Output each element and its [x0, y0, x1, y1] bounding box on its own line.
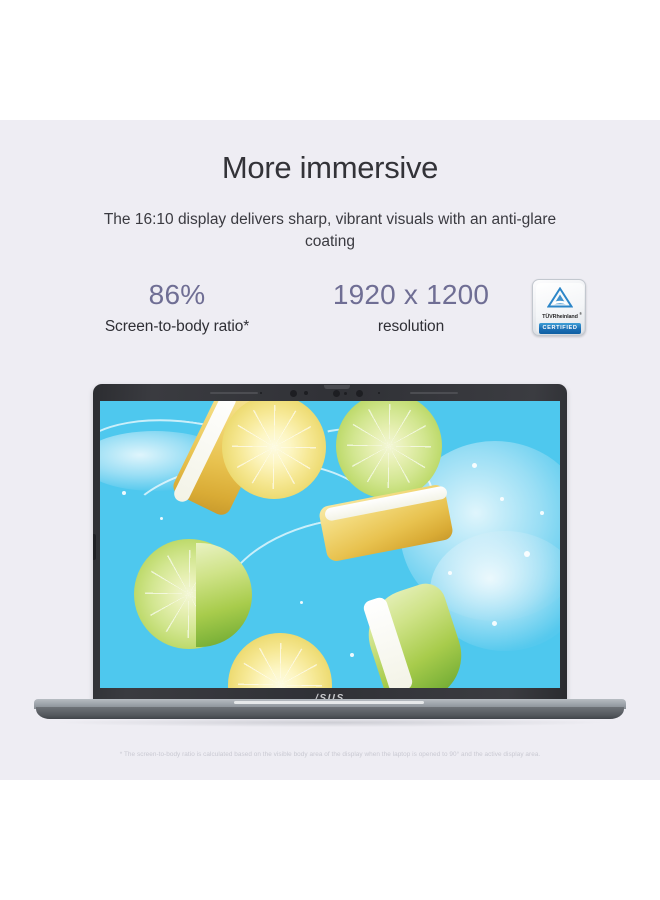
page-subtitle: The 16:10 display delivers sharp, vibran…: [0, 209, 660, 254]
tuv-rheinland-badge: TÜVRheinland® CERTIFIED: [532, 279, 586, 336]
laptop-base-lip: [234, 701, 424, 704]
mic-grille-left: [210, 392, 258, 395]
status-led-left: [304, 391, 308, 395]
lid-side-nub: [93, 534, 96, 560]
webcam-lens: [333, 390, 340, 397]
stat-resolution: 1920 x 1200 resolution: [296, 278, 526, 336]
sensor-pin-left: [260, 392, 262, 394]
top-bezel-sensors: [100, 384, 560, 401]
tuv-brand-text: TÜVRheinland®: [542, 314, 578, 320]
droplet-10: [540, 511, 544, 515]
laptop-base: [34, 699, 626, 721]
sensor-pin-right: [378, 392, 380, 394]
tuv-certified-band: CERTIFIED: [539, 323, 581, 334]
droplet-2: [160, 517, 163, 520]
webcam-led: [344, 392, 347, 395]
ir-sensor-right: [356, 390, 363, 397]
laptop-lid: /SUS: [93, 384, 567, 708]
product-feature-page: More immersive The 16:10 display deliver…: [0, 0, 660, 900]
droplet-6: [448, 571, 452, 575]
stat-value-screen-to-body: 86%: [62, 278, 292, 312]
tuv-badge-inner: TÜVRheinland® CERTIFIED: [536, 283, 584, 334]
tuv-registered-mark: ®: [579, 312, 581, 316]
laptop-screen: [100, 401, 560, 688]
footnote-text: * The screen-to-body ratio is calculated…: [0, 751, 660, 758]
stat-screen-to-body: 86% Screen-to-body ratio*: [62, 278, 292, 336]
tuv-triangle-icon: [547, 287, 573, 313]
droplet-4: [500, 497, 504, 501]
droplet-5: [524, 551, 530, 557]
lemon-segments-bottom: [238, 643, 321, 688]
stat-value-resolution: 1920 x 1200: [296, 278, 526, 312]
droplet-8: [350, 653, 354, 657]
droplet-7: [492, 621, 497, 626]
stat-label-resolution: resolution: [296, 318, 526, 336]
laptop-base-bottom: [36, 707, 624, 719]
page-title: More immersive: [0, 150, 660, 186]
ir-sensor-left: [290, 390, 297, 397]
webcam-shutter: [324, 385, 350, 389]
droplet-3: [472, 463, 477, 468]
stat-label-screen-to-body: Screen-to-body ratio*: [62, 318, 292, 336]
laptop-product-image: /SUS: [0, 384, 660, 724]
droplet-9: [300, 601, 303, 604]
lime-segments-top-right: [347, 404, 432, 489]
droplet-1: [122, 491, 126, 495]
lemon-segments-top-center: [232, 405, 315, 488]
mic-grille-right: [410, 392, 458, 395]
